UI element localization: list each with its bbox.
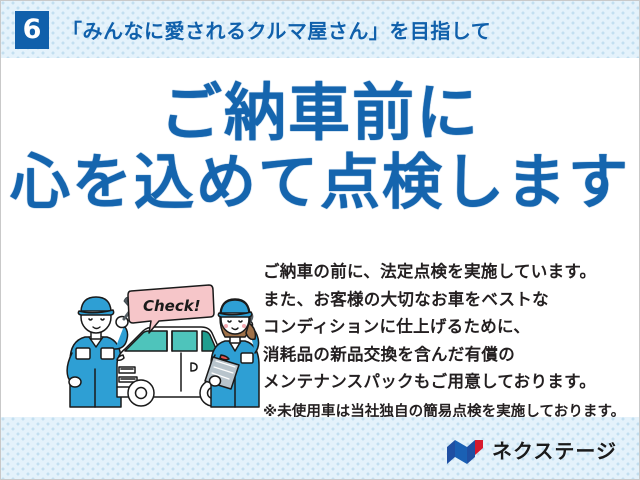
body-line-1: ご納車の前に、法定点検を実施しています。 — [263, 259, 623, 287]
header: 6 「みんなに愛されるクルマ屋さん」を目指して — [1, 1, 639, 58]
body-line-3: コンディションに仕上げるために、 — [263, 314, 623, 342]
body-line-2: また、お客様の大切なお車をベストな — [263, 287, 623, 315]
logo-text: ネクステージ — [492, 442, 617, 462]
headline: ご納車前に 心を込めて点検します — [1, 79, 639, 217]
inspection-banner: 6 「みんなに愛されるクルマ屋さん」を目指して ご納車前に 心を込めて点検します… — [0, 0, 640, 480]
header-title: 「みんなに愛されるクルマ屋さん」を目指して — [62, 15, 491, 44]
check-speech-bubble: Check! — [128, 285, 214, 333]
step-number-badge: 6 — [15, 11, 49, 49]
nextage-n-mark-icon — [446, 439, 484, 465]
mechanics-illustration: Check! — [63, 269, 263, 409]
body-line-5: メンテナンスパックもご用意しております。 — [263, 369, 623, 397]
body-line-4: 消耗品の新品交換を含んだ有償の — [263, 342, 623, 370]
body-copy: ご納車の前に、法定点検を実施しています。 また、お客様の大切なお車をベストな コ… — [263, 259, 623, 424]
headline-line-1: ご納車前に — [1, 79, 639, 149]
speech-bubble-text: Check! — [143, 297, 201, 315]
mechanics-illustration-svg: Check! — [63, 269, 263, 409]
footer-logo: ネクステージ — [446, 439, 617, 465]
headline-line-2: 心を込めて点検します — [1, 149, 639, 217]
